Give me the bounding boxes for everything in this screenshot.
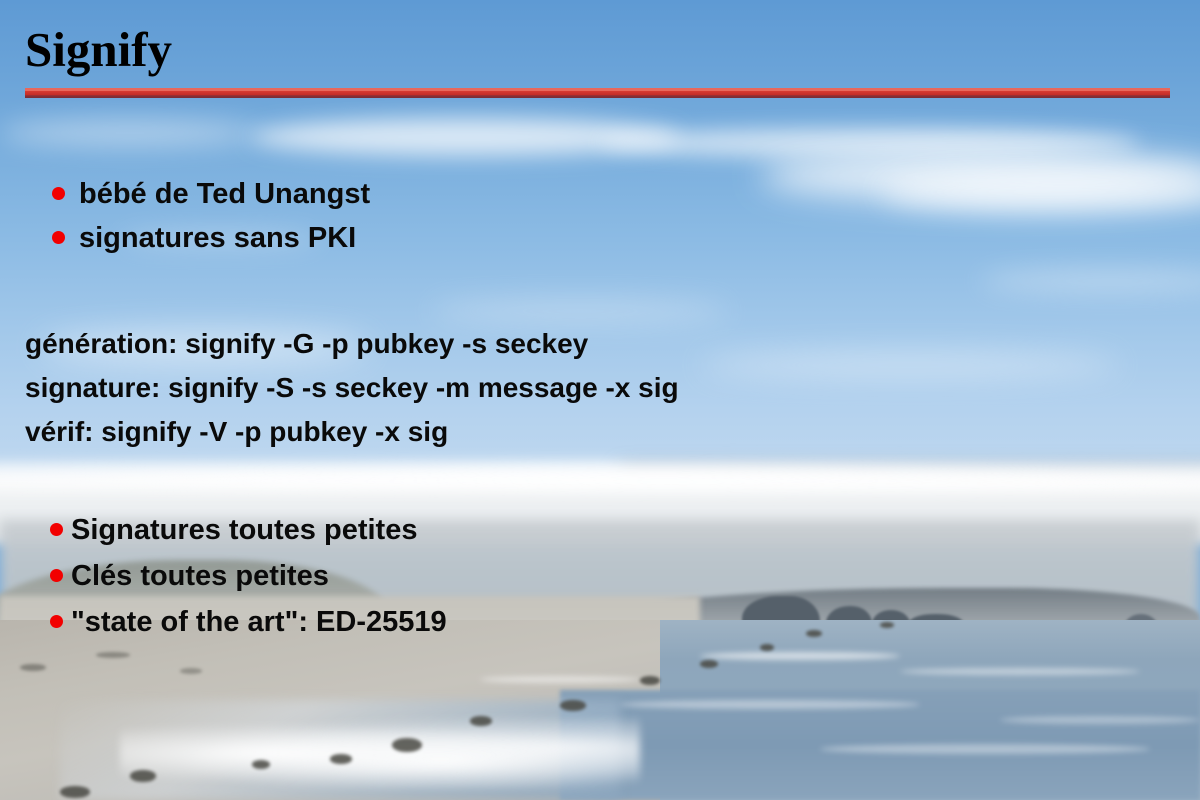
cloud-wisp [0, 120, 260, 146]
shore-debris [560, 700, 586, 711]
command-line-verification: vérif: signify -V -p pubkey -x sig [25, 410, 679, 454]
bullet-list-bottom: Signatures toutes petites Clés toutes pe… [50, 512, 447, 650]
cloud-wisp [700, 352, 1120, 378]
list-item-label: "state of the art": ED-25519 [71, 604, 447, 640]
bullet-dot-icon [50, 523, 63, 536]
shore-debris [330, 754, 352, 764]
presentation-slide: Signify bébé de Ted Unangst signatures s… [0, 0, 1200, 800]
wave-crest [700, 652, 900, 660]
wave-crest [1000, 716, 1200, 724]
list-item: signatures sans PKI [52, 220, 370, 264]
wave-foam [120, 718, 640, 788]
bullet-dot-icon [50, 615, 63, 628]
list-item-label: Clés toutes petites [71, 558, 329, 594]
horizon-cloud-bank-highlight [0, 452, 1200, 492]
list-item-label: bébé de Ted Unangst [79, 176, 370, 212]
shore-debris [60, 786, 90, 798]
bullet-list-top: bébé de Ted Unangst signatures sans PKI [52, 176, 370, 264]
command-line-generation: génération: signify -G -p pubkey -s seck… [25, 322, 679, 366]
shore-debris [880, 622, 894, 628]
shore-debris [760, 644, 774, 651]
cloud-wisp [430, 300, 730, 322]
list-item-label: Signatures toutes petites [71, 512, 417, 548]
wave-crest [620, 700, 920, 709]
bullet-dot-icon [50, 569, 63, 582]
list-item: Clés toutes petites [50, 558, 447, 604]
shore-debris [392, 738, 422, 752]
slide-title: Signify [25, 25, 172, 74]
shore-debris [130, 770, 156, 782]
list-item: bébé de Ted Unangst [52, 176, 370, 220]
command-lines: génération: signify -G -p pubkey -s seck… [25, 322, 679, 454]
wave-crest [820, 744, 1150, 754]
wave-crest [480, 676, 640, 683]
shore-debris [180, 668, 202, 674]
list-item-label: signatures sans PKI [79, 220, 356, 256]
title-underline-rule [25, 88, 1170, 98]
shore-debris [640, 676, 660, 685]
shore-debris [700, 660, 718, 668]
shore-debris [470, 716, 492, 726]
bullet-dot-icon [52, 231, 65, 244]
shore-debris [806, 630, 822, 637]
shore-debris [252, 760, 270, 769]
list-item: "state of the art": ED-25519 [50, 604, 447, 650]
list-item: Signatures toutes petites [50, 512, 447, 558]
command-line-signature: signature: signify -S -s seckey -m messa… [25, 366, 679, 410]
shore-debris [96, 652, 130, 658]
bullet-dot-icon [52, 187, 65, 200]
shore-debris [20, 664, 46, 671]
wave-crest [900, 668, 1140, 675]
